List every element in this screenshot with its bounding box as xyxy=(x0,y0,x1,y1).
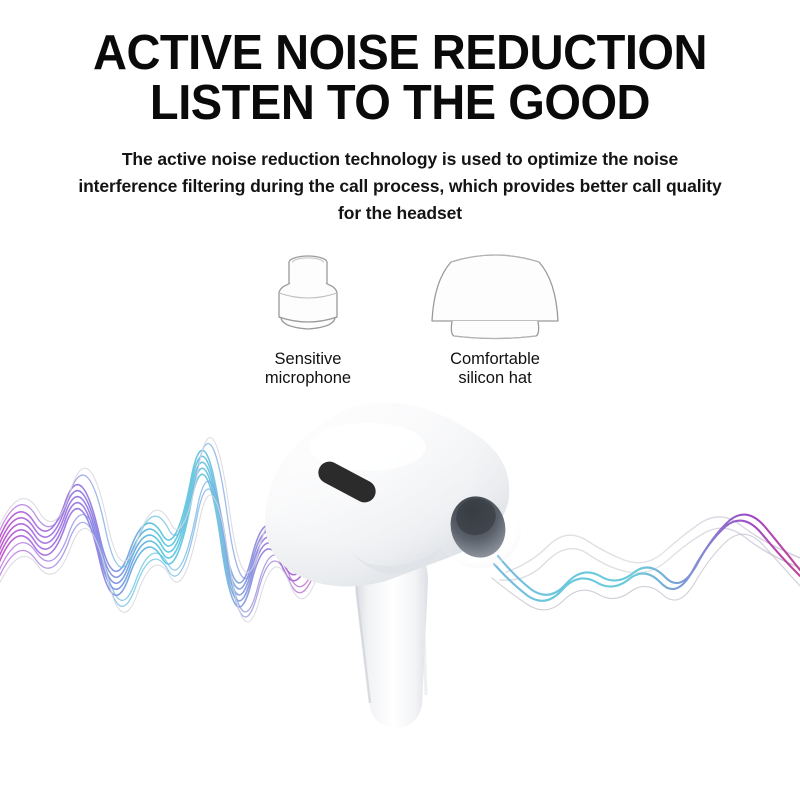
feature-label-silicon-hat-line-2: silicon hat xyxy=(400,369,590,388)
wireless-earbud-product-image xyxy=(236,395,566,740)
feature-label-microphone-line-1: Sensitive xyxy=(213,350,403,369)
page-title: ACTIVE NOISE REDUCTION LISTEN TO THE GOO… xyxy=(16,28,784,128)
headline-line-2: LISTEN TO THE GOOD xyxy=(16,78,784,128)
earbud-nozzle xyxy=(437,488,521,568)
product-marketing-page: ACTIVE NOISE REDUCTION LISTEN TO THE GOO… xyxy=(0,0,800,800)
description-line-2: interference filtering during the call p… xyxy=(36,173,764,200)
feature-label-microphone: Sensitive microphone xyxy=(213,350,403,388)
feature-icon-row: Sensitive microphone Comfortable silicon… xyxy=(0,248,800,398)
feature-label-silicon-hat-line-1: Comfortable xyxy=(400,350,590,369)
feature-sensitive-microphone: Sensitive microphone xyxy=(213,248,403,388)
feature-label-microphone-line-2: microphone xyxy=(213,369,403,388)
description-line-1: The active noise reduction technology is… xyxy=(36,146,764,173)
description-line-3: for the headset xyxy=(36,200,764,227)
feature-label-silicon-hat: Comfortable silicon hat xyxy=(400,350,590,388)
description-text: The active noise reduction technology is… xyxy=(36,146,764,227)
silicone-ear-tip-icon xyxy=(420,248,570,344)
microphone-capsule-icon xyxy=(262,248,354,344)
feature-comfortable-silicon-hat: Comfortable silicon hat xyxy=(400,248,590,388)
headline-line-1: ACTIVE NOISE REDUCTION xyxy=(16,28,784,78)
